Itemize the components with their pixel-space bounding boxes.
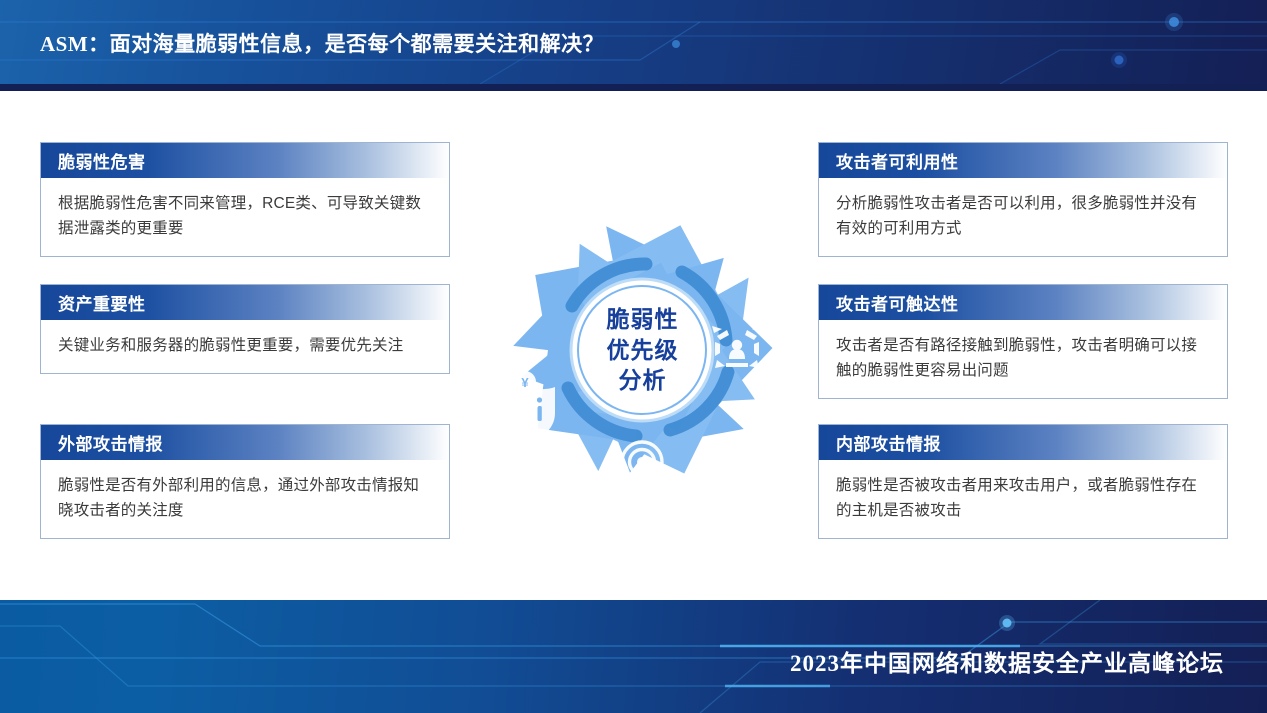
footer-title: 2023年中国网络和数据安全产业高峰论坛 [790,644,1224,678]
card-header: 外部攻击情报 [41,425,449,460]
card-body: 关键业务和服务器的脆弱性更重要，需要优先关注 [41,320,449,373]
card-title: 攻击者可触达性 [836,290,959,315]
card-attacker-exploitability[interactable]: 攻击者可利用性 分析脆弱性攻击者是否可以利用，很多脆弱性并没有有效的可利用方式 [818,142,1228,257]
header-bottom-strip [0,84,1267,91]
priority-analysis-diagram: ¥ 脆弱性 优先级 分析 [455,160,830,540]
card-body: 脆弱性是否有外部利用的信息，通过外部攻击情报知晓攻击者的关注度 [41,460,449,538]
card-title: 外部攻击情报 [58,430,163,455]
card-body: 根据脆弱性危害不同来管理，RCE类、可导致关键数据泄露类的更重要 [41,178,449,256]
broadcast-signal-icon [622,442,662,483]
network-nodes-icon [644,189,699,231]
card-header: 内部攻击情报 [819,425,1227,460]
card-body: 分析脆弱性攻击者是否可以利用，很多脆弱性并没有有效的可利用方式 [819,178,1227,256]
card-title: 资产重要性 [58,290,146,315]
card-attacker-reachability[interactable]: 攻击者可触达性 攻击者是否有路径接触到脆弱性，攻击者明确可以接触的脆弱性更容易出… [818,284,1228,399]
diagram-svg: ¥ [455,160,830,540]
card-internal-attack-intel[interactable]: 内部攻击情报 脆弱性是否被攻击者用来攻击用户，或者脆弱性存在的主机是否被攻击 [818,424,1228,539]
card-body: 攻击者是否有路径接触到脆弱性，攻击者明确可以接触的脆弱性更容易出问题 [819,320,1227,398]
card-vulnerability-harm[interactable]: 脆弱性危害 根据脆弱性危害不同来管理，RCE类、可导致关键数据泄露类的更重要 [40,142,450,257]
card-external-attack-intel[interactable]: 外部攻击情报 脆弱性是否有外部利用的信息，通过外部攻击情报知晓攻击者的关注度 [40,424,450,539]
card-header: 攻击者可利用性 [819,143,1227,178]
card-asset-importance[interactable]: 资产重要性 关键业务和服务器的脆弱性更重要，需要优先关注 [40,284,450,374]
slide-header: ASM：面对海量脆弱性信息，是否每个都需要关注和解决？ [0,0,1267,84]
card-header: 攻击者可触达性 [819,285,1227,320]
card-title: 内部攻击情报 [836,430,941,455]
card-header: 脆弱性危害 [41,143,449,178]
card-body: 脆弱性是否被攻击者用来攻击用户，或者脆弱性存在的主机是否被攻击 [819,460,1227,538]
card-header: 资产重要性 [41,285,449,320]
card-title: 攻击者可利用性 [836,148,959,173]
svg-text:¥: ¥ [521,375,529,390]
slide-footer: 2023年中国网络和数据安全产业高峰论坛 [0,600,1267,713]
page-title: ASM：面对海量脆弱性信息，是否每个都需要关注和解决？ [40,28,604,58]
slide: ASM：面对海量脆弱性信息，是否每个都需要关注和解决？ 脆弱性危害 根据脆弱性危… [0,0,1267,713]
card-title: 脆弱性危害 [58,148,146,173]
